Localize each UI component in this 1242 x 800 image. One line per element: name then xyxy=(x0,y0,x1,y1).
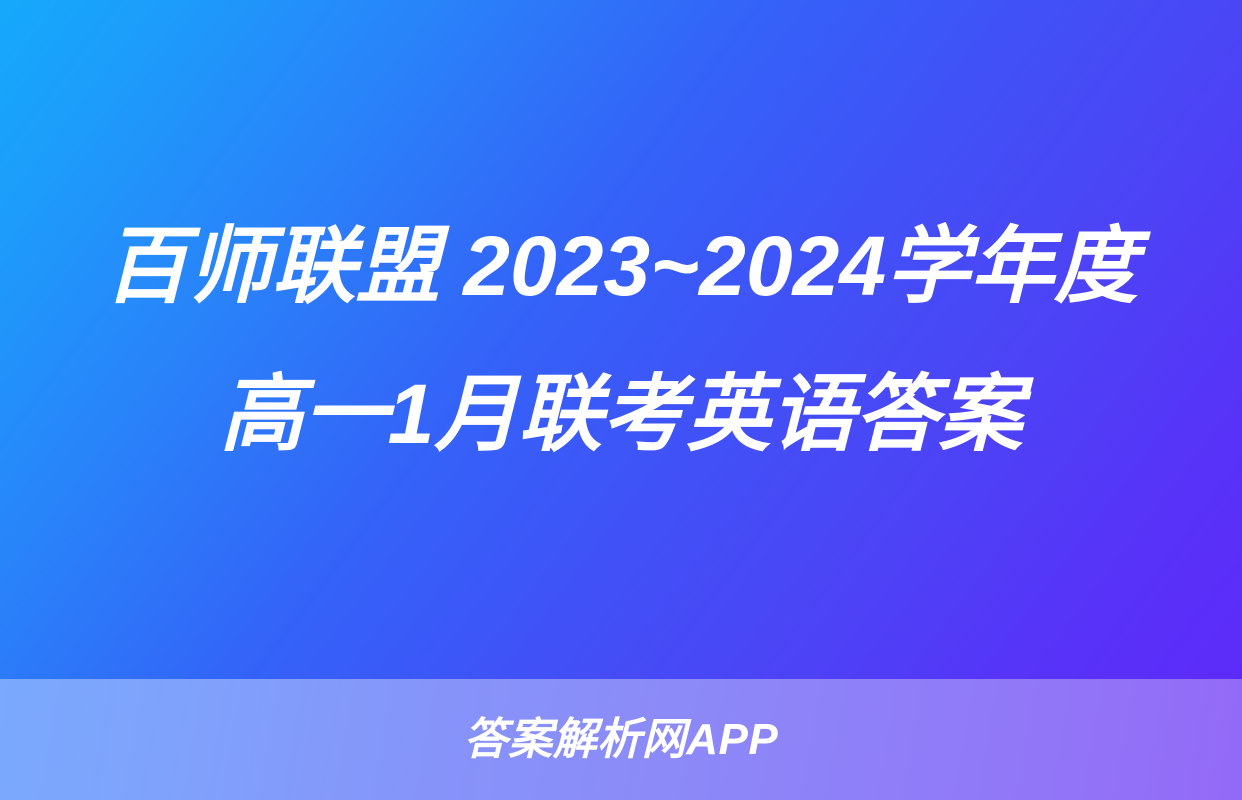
hero-gradient-panel: 百师联盟 2023~2024学年度高一1月联考英语答案 xyxy=(0,0,1242,679)
brand-watermark: 答案解析网APP xyxy=(464,718,778,762)
page-title: 百师联盟 2023~2024学年度高一1月联考英语答案 xyxy=(78,192,1164,488)
watermark-band: 答案解析网APP xyxy=(0,679,1242,800)
hero-content: 百师联盟 2023~2024学年度高一1月联考英语答案 xyxy=(0,192,1242,488)
poster-card: 百师联盟 2023~2024学年度高一1月联考英语答案 答案解析网APP xyxy=(0,0,1242,800)
